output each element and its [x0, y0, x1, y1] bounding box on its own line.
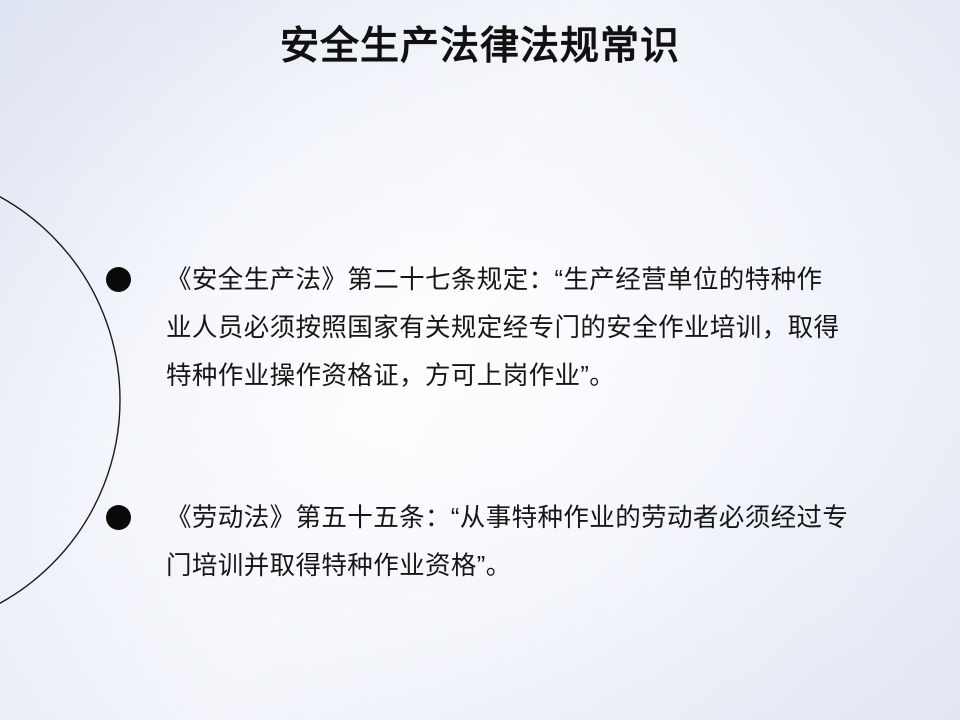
bullet-paragraph-2: 《劳动法》第五十五条：“从事特种作业的劳动者必须经过专 门培训并取得特种作业资格… [166, 494, 914, 590]
page-title: 安全生产法律法规常识 [0, 24, 960, 71]
bullet-2-line-1: 《劳动法》第五十五条：“从事特种作业的劳动者必须经过专 [166, 494, 914, 542]
bullet-1-line-1: 《安全生产法》第二十七条规定：“生产经营单位的特种作 [166, 256, 914, 304]
bullet-paragraph-1: 《安全生产法》第二十七条规定：“生产经营单位的特种作 业人员必须按照国家有关规定… [166, 256, 914, 400]
bullet-marker-1 [106, 267, 131, 292]
bullet-1-line-2: 业人员必须按照国家有关规定经专门的安全作业培训，取得 [166, 304, 914, 352]
bullet-1-line-3: 特种作业操作资格证，方可上岗作业”。 [166, 352, 914, 400]
bullet-marker-2 [106, 505, 131, 530]
presentation-slide: 安全生产法律法规常识 《安全生产法》第二十七条规定：“生产经营单位的特种作 业人… [0, 0, 960, 720]
bullet-2-line-2: 门培训并取得特种作业资格”。 [166, 542, 914, 590]
arc-circle [0, 168, 120, 632]
